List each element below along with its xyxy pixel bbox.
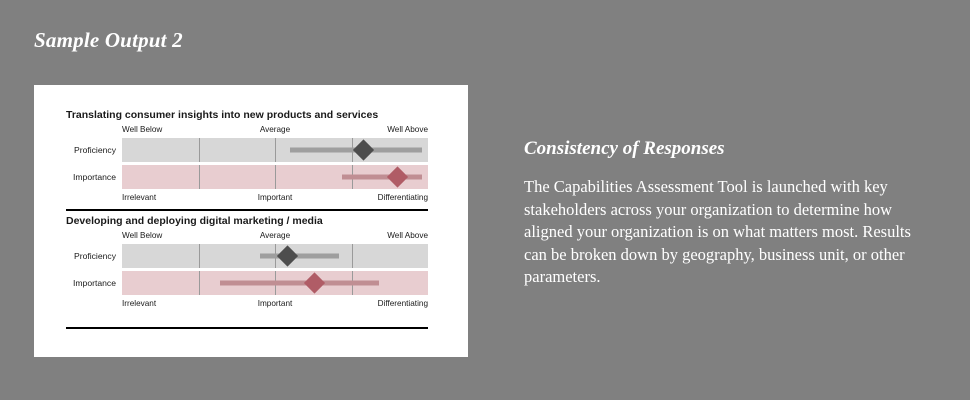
chart-0-row-proficiency: Proficiency (122, 138, 428, 162)
chart-1-top-tick-1: Average (260, 231, 290, 240)
chart-title-0: Translating consumer insights into new p… (66, 109, 428, 121)
chart-bottom-rule (66, 327, 428, 329)
chart-0-importance-whisker (342, 175, 422, 180)
chart-0-top-axis: Well Below Average Well Above (122, 125, 428, 138)
chart-1-gridline-75 (352, 244, 353, 268)
chart-1-gridline-25 (199, 244, 200, 268)
chart-card: Translating consumer insights into new p… (34, 85, 468, 357)
chart-0-proficiency-label: Proficiency (74, 145, 116, 155)
chart-1-rows: Proficiency Importance (122, 244, 428, 295)
chart-0-bottom-tick-1: Important (258, 193, 293, 202)
chart-title-1: Developing and deploying digital marketi… (66, 215, 428, 227)
chart-0-bottom-tick-2: Differentiating (378, 193, 428, 202)
chart-1-top-tick-0: Well Below (122, 231, 162, 240)
chart-1-bottom-axis: Irrelevant Important Differentiating (122, 299, 428, 312)
chart-divider-rule (66, 209, 428, 211)
page-title: Sample Output 2 (34, 28, 183, 53)
chart-0-row-importance: Importance (122, 165, 428, 189)
panel-body: The Capabilities Assessment Tool is laun… (524, 176, 928, 289)
chart-1-proficiency-whisker (260, 254, 340, 259)
chart-0-gridline-50b (275, 165, 276, 189)
chart-1-gridline-25b (199, 271, 200, 295)
chart-1-proficiency-label: Proficiency (74, 251, 116, 261)
chart-1-importance-label: Importance (73, 278, 116, 288)
chart-0-importance-label: Importance (73, 172, 116, 182)
chart-0-bottom-tick-0: Irrelevant (122, 193, 156, 202)
chart-0-top-tick-1: Average (260, 125, 290, 134)
chart-0-top-tick-2: Well Above (387, 125, 428, 134)
chart-1-bottom-tick-2: Differentiating (378, 299, 428, 308)
chart-0-bottom-axis: Irrelevant Important Differentiating (122, 193, 428, 206)
chart-1-top-axis: Well Below Average Well Above (122, 231, 428, 244)
chart-1-bottom-tick-1: Important (258, 299, 293, 308)
chart-0-gridline-25 (199, 138, 200, 162)
chart-0-top-tick-0: Well Below (122, 125, 162, 134)
text-panel: Consistency of Responses The Capabilitie… (524, 138, 928, 289)
chart-1-importance-whisker (220, 281, 379, 286)
chart-block-0: Translating consumer insights into new p… (66, 109, 428, 206)
chart-1-row-proficiency: Proficiency (122, 244, 428, 268)
chart-1-row-importance: Importance (122, 271, 428, 295)
panel-heading: Consistency of Responses (524, 138, 928, 160)
chart-1-bottom-tick-0: Irrelevant (122, 299, 156, 308)
chart-0-gridline-25b (199, 165, 200, 189)
chart-1-top-tick-2: Well Above (387, 231, 428, 240)
chart-0-rows: Proficiency Importance (122, 138, 428, 189)
chart-block-1: Developing and deploying digital marketi… (66, 215, 428, 312)
chart-0-gridline-50 (275, 138, 276, 162)
